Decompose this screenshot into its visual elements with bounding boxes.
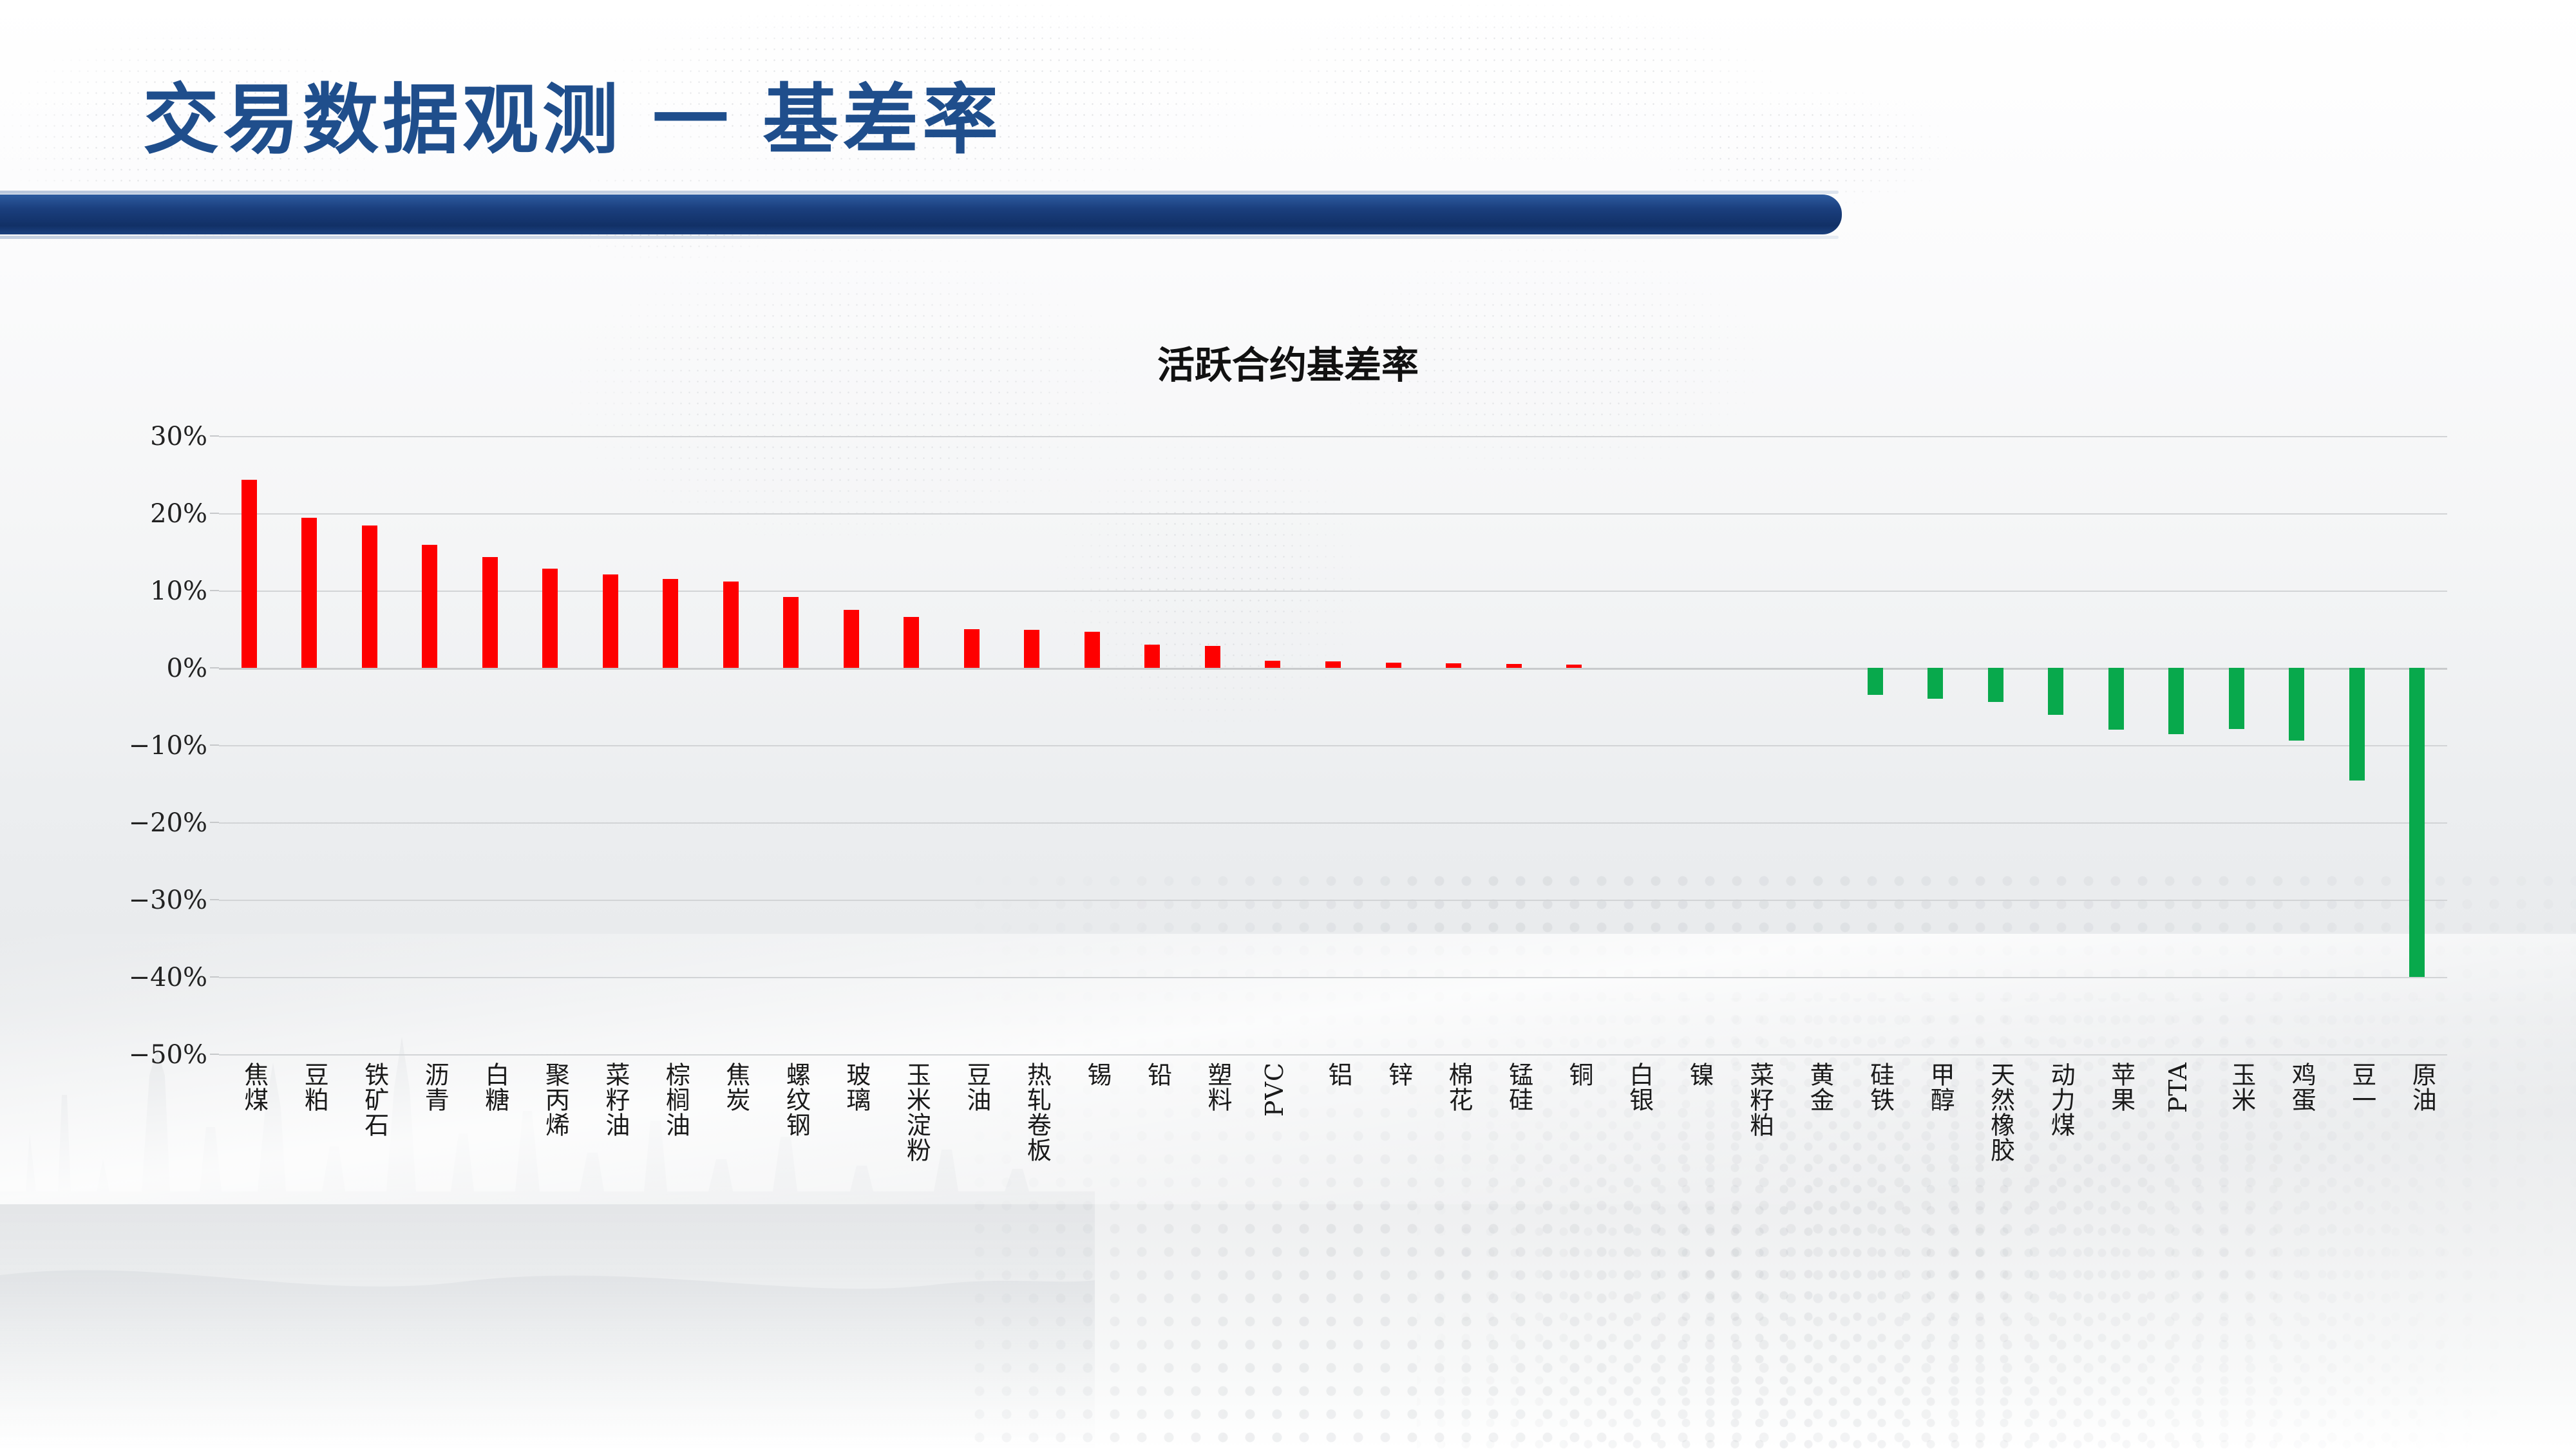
x-axis-category-label: 天然橡胶 (1984, 1062, 2019, 1162)
gridline (219, 900, 2447, 901)
x-axis-category-label: 热轧卷板 (1019, 1062, 1055, 1162)
x-axis-category-label: 白糖 (478, 1062, 513, 1112)
y-axis-tick-label: 20% (14, 499, 207, 529)
bar-positive (723, 582, 739, 668)
gridline (219, 977, 2447, 978)
basis-rate-bar-chart: 活跃合约基差率 30%20%10%0%−10%−20%−30%−40%−50%焦… (0, 335, 2576, 1449)
x-axis-category-label: 玉米 (2224, 1062, 2260, 1112)
x-axis-category-label: 锡 (1080, 1062, 1115, 1087)
x-axis-category-label: 豆粕 (297, 1062, 332, 1112)
y-axis-tick-mark (210, 435, 219, 437)
x-axis-category-label: 白银 (1622, 1062, 1658, 1112)
chart-plot-area: 30%20%10%0%−10%−20%−30%−40%−50%焦煤豆粕铁矿石沥青… (219, 436, 2447, 1054)
chart-title: 活跃合约基差率 (0, 335, 2576, 389)
bar-positive (783, 597, 799, 668)
x-axis-category-label: 甲醇 (1923, 1062, 1958, 1112)
bar-negative (1868, 668, 1883, 695)
y-axis-tick-mark (210, 590, 219, 591)
slide-canvas: 交易数据观测 一 基差率 活跃合约基差率 30%20%10%0%−10%−20%… (0, 0, 2576, 1449)
bar-negative (2108, 668, 2124, 730)
y-axis-tick-mark (210, 822, 219, 823)
x-axis-category-label: 镍 (1682, 1062, 1718, 1087)
x-axis-category-label: 沥青 (417, 1062, 453, 1112)
bar-negative (2168, 668, 2184, 734)
bar-positive (422, 545, 437, 668)
bar-negative (2048, 668, 2063, 715)
y-axis-tick-label: 30% (14, 422, 207, 451)
x-axis-category-label: 棉花 (1441, 1062, 1477, 1112)
y-axis-tick-mark (210, 1054, 219, 1055)
gridline (219, 822, 2447, 824)
bar-negative (2349, 668, 2365, 781)
bar-positive (1084, 632, 1100, 668)
bar-positive (1506, 664, 1522, 668)
bar-positive (1386, 663, 1401, 668)
bar-positive (362, 526, 377, 668)
bar-positive (663, 579, 678, 668)
y-axis-tick-label: −10% (14, 731, 207, 761)
bar-positive (1144, 645, 1160, 668)
x-axis-category-label: 螺纹钢 (779, 1062, 814, 1137)
bar-positive (1566, 665, 1582, 668)
x-axis-category-label: 铁矿石 (357, 1062, 393, 1137)
header-accent-bar (0, 194, 1842, 234)
x-axis-category-label: 玉米淀粉 (899, 1062, 934, 1162)
y-axis-tick-mark (210, 976, 219, 978)
bar-negative (2229, 668, 2244, 729)
bar-negative (2409, 668, 2425, 977)
y-axis-tick-label: 0% (14, 654, 207, 683)
y-axis-tick-mark (210, 899, 219, 900)
x-axis-category-label: 塑料 (1200, 1062, 1236, 1112)
x-axis-category-label: 原油 (2405, 1062, 2440, 1112)
bar-positive (482, 557, 498, 668)
x-axis-category-label: 玻璃 (839, 1062, 875, 1112)
bar-positive (964, 629, 980, 668)
gridline (219, 513, 2447, 515)
x-axis-category-label: 铅 (1140, 1062, 1175, 1087)
y-axis-tick-label: −30% (14, 885, 207, 915)
y-axis-tick-label: −40% (14, 963, 207, 992)
bar-positive (904, 617, 919, 668)
bar-negative (1927, 668, 1943, 699)
bar-positive (542, 569, 558, 668)
gridline (219, 436, 2447, 437)
x-axis-category-label: 动力煤 (2043, 1062, 2079, 1137)
x-axis-category-label: 铝 (1321, 1062, 1356, 1087)
y-axis-tick-label: −50% (14, 1040, 207, 1070)
bar-positive (1265, 661, 1280, 668)
x-axis-category-label: 豆油 (960, 1062, 995, 1112)
bar-negative (1988, 668, 2003, 702)
bar-positive (1325, 661, 1341, 668)
x-axis-category-label: 焦煤 (237, 1062, 272, 1112)
gridline (219, 1054, 2447, 1056)
x-axis-category-label: 锰硅 (1502, 1062, 1537, 1112)
x-axis-category-label: 鸡蛋 (2284, 1062, 2320, 1112)
y-axis-tick-mark (210, 513, 219, 514)
x-axis-category-label: 硅铁 (1863, 1062, 1899, 1112)
x-axis-category-label: 棕榈油 (658, 1062, 694, 1137)
page-title: 交易数据观测 一 基差率 (143, 58, 1002, 168)
y-axis-tick-label: 10% (14, 576, 207, 606)
x-axis-category-label: 铜 (1562, 1062, 1597, 1087)
x-axis-category-label: 苹果 (2104, 1062, 2139, 1112)
bar-positive (241, 480, 257, 668)
x-axis-category-label: PVC (1260, 1062, 1289, 1117)
bar-positive (1024, 630, 1039, 668)
x-axis-category-label: 锌 (1381, 1062, 1417, 1087)
x-axis-category-label: PTA (2164, 1062, 2192, 1113)
y-axis-tick-label: −20% (14, 808, 207, 838)
bar-negative (2289, 668, 2304, 741)
x-axis-category-label: 黄金 (1803, 1062, 1838, 1112)
y-axis-tick-mark (210, 744, 219, 746)
bar-positive (603, 574, 618, 668)
bar-positive (1205, 646, 1220, 668)
x-axis-category-label: 豆一 (2345, 1062, 2380, 1112)
gridline (219, 745, 2447, 746)
x-axis-category-label: 菜籽粕 (1743, 1062, 1778, 1137)
bar-positive (844, 610, 859, 668)
x-axis-category-label: 菜籽油 (598, 1062, 634, 1137)
x-axis-category-label: 焦炭 (719, 1062, 754, 1112)
y-axis-tick-mark (210, 667, 219, 668)
bar-positive (1446, 663, 1461, 668)
bar-positive (301, 518, 317, 668)
x-axis-category-label: 聚丙烯 (538, 1062, 573, 1137)
